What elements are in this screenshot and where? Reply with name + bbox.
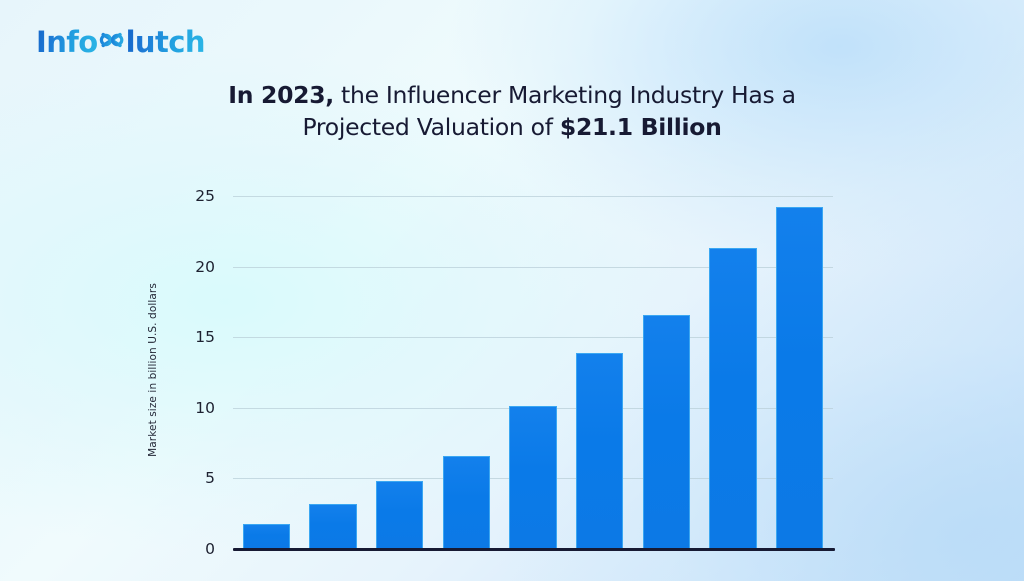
- bar[interactable]: [309, 504, 357, 549]
- y-axis-ticks: 0510152025: [163, 196, 223, 549]
- bar[interactable]: [376, 481, 424, 549]
- y-axis-tick-label: 10: [195, 399, 215, 417]
- y-axis-tick-label: 25: [195, 187, 215, 205]
- bar[interactable]: [576, 353, 624, 549]
- plot-area: [233, 196, 833, 549]
- bar[interactable]: [776, 207, 824, 549]
- y-axis-tick-label: 20: [195, 258, 215, 276]
- y-axis-tick-label: 5: [205, 469, 215, 487]
- y-axis-tick-label: 15: [195, 328, 215, 346]
- bar-chart: Market size in billion U.S. dollars 0510…: [0, 0, 1024, 581]
- infographic-canvas: Info lutch In 2023, the Influencer Marke…: [0, 0, 1024, 581]
- bar[interactable]: [509, 406, 557, 549]
- y-axis-label: Market size in billion U.S. dollars: [147, 283, 159, 457]
- x-axis-line: [233, 548, 835, 551]
- y-axis-tick-label: 0: [205, 540, 215, 558]
- gridline: [233, 196, 833, 197]
- bar[interactable]: [243, 524, 291, 549]
- bar[interactable]: [709, 248, 757, 549]
- bar[interactable]: [643, 315, 691, 549]
- bar[interactable]: [443, 456, 491, 549]
